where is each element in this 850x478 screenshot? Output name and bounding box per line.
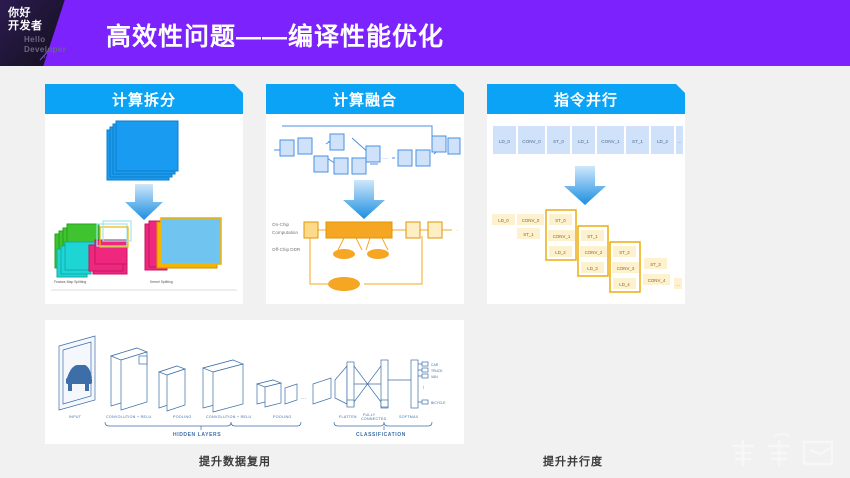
svg-text:LD_0: LD_0	[499, 139, 510, 144]
page-title: 高效性问题——编译性能优化	[106, 17, 444, 53]
svg-text:CONV_0: CONV_0	[522, 218, 540, 223]
fused-nodes: ·	[304, 222, 458, 291]
svg-text:ST_2: ST_2	[619, 250, 630, 255]
label-off-chip-ddr: Off-Chip DDR	[272, 247, 301, 252]
svg-text:···: ···	[301, 396, 306, 402]
down-arrow-icon	[564, 166, 606, 205]
svg-text:CONV_0: CONV_0	[522, 139, 541, 144]
cnn-architecture-inner: ··· CAR	[51, 326, 458, 438]
label-feature-map-splitting: Feature Map Splitting	[54, 280, 86, 284]
svg-text:LD_3: LD_3	[587, 266, 598, 271]
card-instruction-parallel: 指令并行 LD_0 CONV_0 ST_0 LD_1 CONV_1 ST_1 L…	[487, 84, 685, 304]
svg-text:ST_1: ST_1	[523, 232, 534, 237]
svg-text:SOFTMAX: SOFTMAX	[399, 415, 419, 419]
svg-text:LD_4: LD_4	[619, 282, 630, 287]
label-kernel-splitting: Kernel Splitting	[150, 280, 173, 284]
watermark-logo	[722, 432, 842, 472]
instruction-parallel-diagram: LD_0 CONV_0 ST_0 LD_1 CONV_1 ST_1 LD_2 …	[487, 114, 685, 304]
card-compute-fusion: 计算融合	[266, 84, 464, 304]
card-title-compute-split: 计算拆分	[45, 84, 243, 114]
card-body-compute-split: Feature Map Splitting Kernel Splitting	[45, 114, 243, 304]
down-arrow-icon	[343, 180, 385, 219]
logo-chinese-text: 你好 开发者	[8, 7, 43, 33]
kernel-splitting-group	[145, 218, 221, 270]
card-compute-split: 计算拆分	[45, 84, 243, 304]
svg-text:ST_1: ST_1	[632, 139, 643, 144]
svg-text:INPUT: INPUT	[69, 415, 82, 419]
svg-text:POOLING: POOLING	[173, 415, 191, 419]
svg-text:CONVOLUTION + RELU: CONVOLUTION + RELU	[106, 415, 152, 419]
svg-text:…: …	[677, 139, 681, 144]
svg-text:ST_1: ST_1	[587, 234, 598, 239]
compute-split-diagram: Feature Map Splitting Kernel Splitting	[45, 114, 243, 304]
compute-fusion-diagram: ···	[266, 114, 464, 304]
svg-text:CONV_1: CONV_1	[601, 139, 620, 144]
svg-text:TRUCK: TRUCK	[431, 369, 443, 373]
logo-cn-line-2: 开发者	[8, 20, 43, 33]
caption-parallelism: 提升并行度	[543, 453, 603, 469]
down-arrow-icon	[125, 184, 163, 220]
logo-en-line-1: Hello	[24, 35, 66, 45]
feature-map-splitting-group	[55, 221, 131, 277]
svg-text:LD_2: LD_2	[657, 139, 668, 144]
caption-data-reuse: 提升数据复用	[199, 453, 271, 469]
svg-text:LD_2: LD_2	[555, 250, 566, 255]
bracket-labels: HIDDEN LAYERS CLASSIFICATION	[173, 432, 406, 438]
cnn-architecture-panel: ··· CAR	[45, 320, 464, 444]
svg-text:·: ·	[456, 228, 458, 234]
svg-text:HIDDEN LAYERS: HIDDEN LAYERS	[173, 432, 221, 438]
unfused-nodes: ···	[280, 134, 460, 174]
svg-text:LD_0: LD_0	[498, 218, 509, 223]
svg-text:ST_3: ST_3	[650, 262, 661, 267]
svg-text:CONV_3: CONV_3	[617, 266, 635, 271]
instruction-sequence-row: LD_0 CONV_0 ST_0 LD_1 CONV_1 ST_1 LD_2 …	[493, 126, 683, 154]
stage-labels: INPUT CONVOLUTION + RELU POOLING CONVOLU…	[69, 413, 419, 421]
logo-cn-line-1: 你好	[8, 7, 43, 20]
svg-text:CONV_1: CONV_1	[553, 234, 571, 239]
svg-text:CONV_2: CONV_2	[585, 250, 603, 255]
card-body-instruction-parallel: LD_0 CONV_0 ST_0 LD_1 CONV_1 ST_1 LD_2 …	[487, 114, 685, 304]
svg-text:…: …	[676, 282, 680, 287]
card-body-compute-fusion: ···	[266, 114, 464, 304]
svg-text:ST_0: ST_0	[553, 139, 564, 144]
svg-text:CONNECTED: CONNECTED	[361, 417, 387, 421]
cnn-architecture-diagram: ··· CAR	[51, 326, 458, 438]
svg-text:|: |	[423, 385, 424, 389]
svg-text:FLATTEN: FLATTEN	[339, 415, 357, 419]
svg-text:LD_1: LD_1	[578, 139, 589, 144]
svg-text:POOLING: POOLING	[273, 415, 291, 419]
svg-text:CLASSIFICATION: CLASSIFICATION	[356, 432, 406, 438]
svg-text:BICYCLE: BICYCLE	[431, 401, 446, 405]
feature-map-stack	[107, 121, 178, 180]
page-header: 你好 开发者 Hello Developer 高效性问题——编译性能优化	[0, 0, 850, 66]
svg-text:CONVOLUTION + RELU: CONVOLUTION + RELU	[206, 415, 252, 419]
card-title-instruction-parallel: 指令并行	[487, 84, 685, 114]
parallel-groups: LD_0 CONV_0 ST_1 ST_0 CONV_1 LD_2 ST_1 C…	[492, 210, 682, 292]
card-title-compute-fusion: 计算融合	[266, 84, 464, 114]
brand-logo-panel: 你好 开发者 Hello Developer	[0, 0, 78, 66]
svg-text:VAN: VAN	[431, 375, 438, 379]
logo-english-text: Hello Developer	[24, 35, 66, 55]
svg-text:···: ···	[382, 156, 388, 162]
label-computation: Computation	[272, 230, 298, 235]
svg-text:ST_0: ST_0	[555, 218, 566, 223]
svg-text:CONV_4: CONV_4	[648, 278, 666, 283]
svg-text:CAR: CAR	[431, 363, 439, 367]
logo-en-line-2: Developer	[24, 45, 66, 55]
label-on-chip: On-Chip	[272, 222, 290, 227]
